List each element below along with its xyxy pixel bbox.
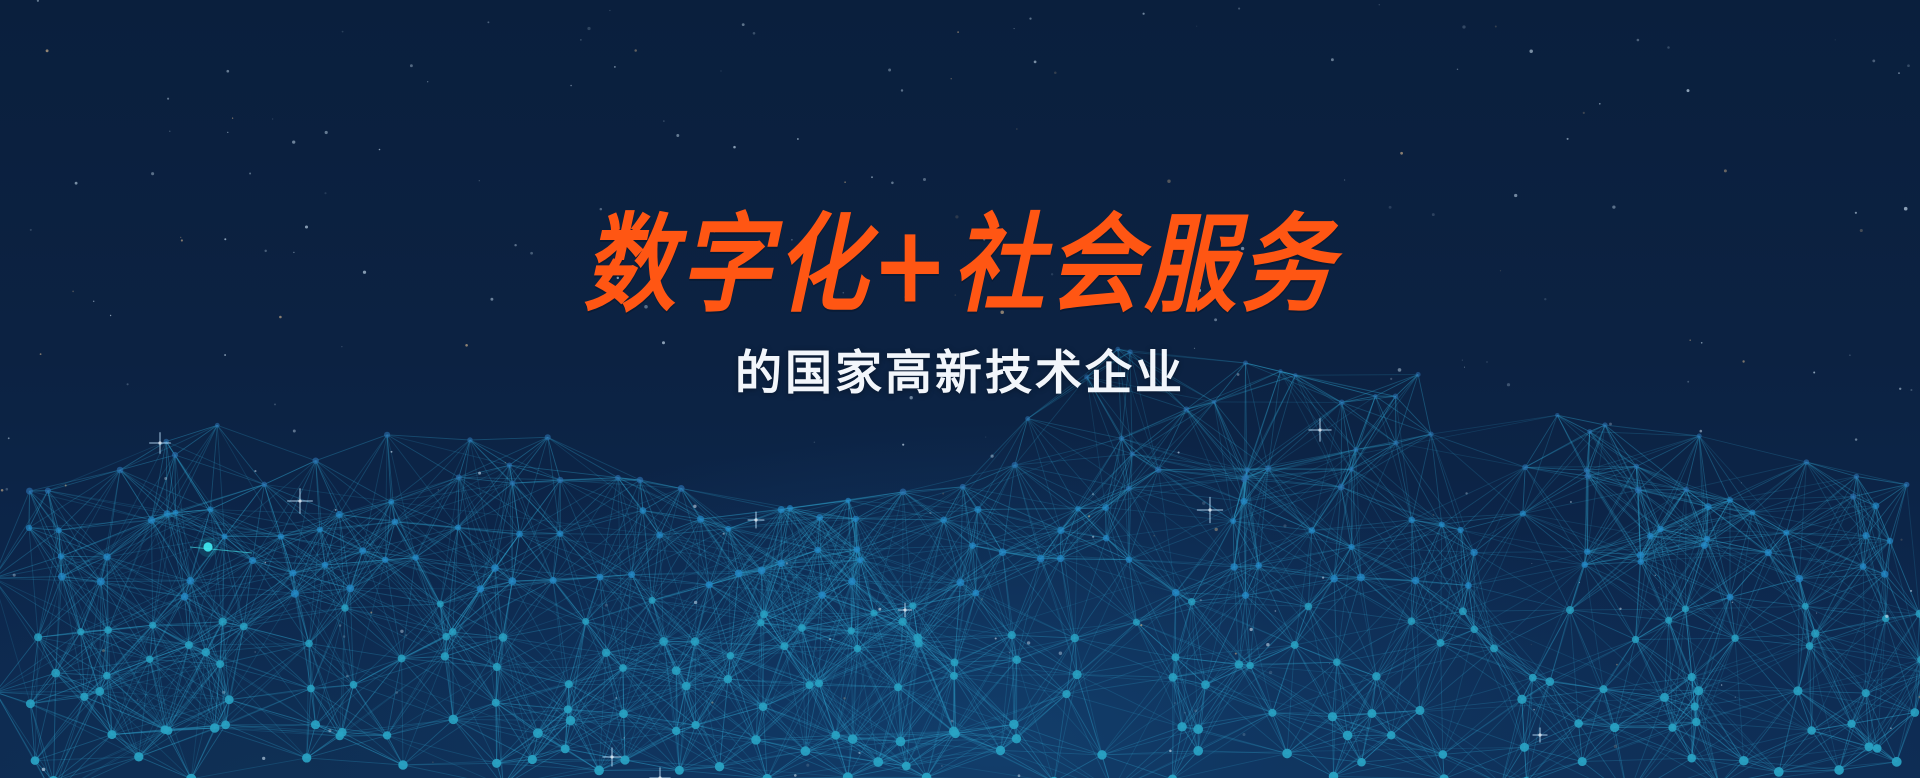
- banner-subtitle: 的国家高新技术企业: [0, 334, 1920, 403]
- hero-banner: 数字化+社会服务 的国家高新技术企业: [0, 0, 1920, 778]
- banner-headline: 数字化+社会服务: [0, 212, 1920, 319]
- banner-text-block: 数字化+社会服务 的国家高新技术企业: [0, 212, 1920, 403]
